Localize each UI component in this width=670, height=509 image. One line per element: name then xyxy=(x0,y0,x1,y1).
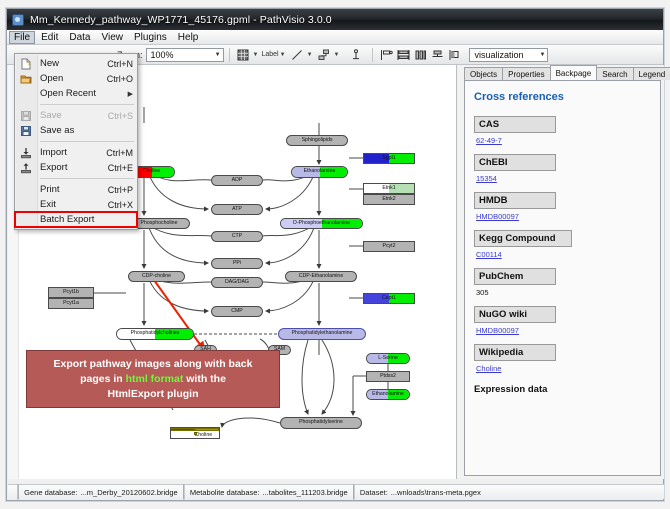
backpage-content: Cross references CAS 62-49-7 ChEBI 15354… xyxy=(464,80,661,476)
label-dropdown-arrow[interactable]: ▼ xyxy=(280,52,286,58)
pathway-node-choline-bottom[interactable]: Choline xyxy=(170,427,220,439)
status-bar: | Gene database: ...m_Derby_20120602.bri… xyxy=(8,484,664,499)
xref-group-cas: CAS 62-49-7 xyxy=(474,116,651,145)
cross-references-heading: Cross references xyxy=(474,91,651,103)
node-label: Pcyt1a xyxy=(63,301,79,306)
node-label: CDP-choline xyxy=(142,274,171,279)
menu-item-edit[interactable]: Edit xyxy=(36,31,63,44)
node-fill-left xyxy=(171,428,195,431)
node-label: O-Phosphoethanolamine xyxy=(293,221,350,226)
node-label: Ethanolamine xyxy=(372,392,404,397)
submenu-arrow-icon: ▶ xyxy=(128,90,133,98)
node-label: SAH xyxy=(200,347,211,352)
pathway-node-etnk2[interactable]: Etnk2 xyxy=(363,194,415,205)
status-dataset-label: Dataset: xyxy=(360,488,388,497)
file-menu-label-new: New xyxy=(40,58,107,69)
status-metabolite-db-value: ...tabolites_111203.bridge xyxy=(263,488,348,497)
file-menu-accel-print: Ctrl+P xyxy=(108,185,133,195)
application-window: Mm_Kennedy_pathway_WP1771_45176.gpml - P… xyxy=(6,8,664,501)
file-menu-item-print[interactable]: Print Ctrl+P xyxy=(15,182,137,197)
menu-item-plugins[interactable]: Plugins xyxy=(129,31,172,44)
file-menu-item-open-recent[interactable]: Open Recent ▶ xyxy=(15,86,137,101)
label-icon[interactable]: Label xyxy=(261,51,278,58)
tab-search[interactable]: Search xyxy=(596,67,633,80)
menu-item-file[interactable]: File xyxy=(9,31,35,44)
selection-handle[interactable] xyxy=(194,427,197,428)
pathway-node-ethanolamine-right[interactable]: Ethanolamine xyxy=(366,389,410,400)
annotation-callout: Export pathway images along with back pa… xyxy=(26,350,280,408)
xref-link-kegg[interactable]: C00114 xyxy=(476,250,502,259)
line-icon[interactable] xyxy=(290,47,305,62)
node-label: ATP xyxy=(232,207,242,212)
file-menu-separator-2 xyxy=(40,141,134,142)
pathway-node-cdp-choline[interactable]: CDP-choline xyxy=(128,271,185,282)
status-gene-db-value: ...m_Derby_20120602.bridge xyxy=(81,488,178,497)
file-menu-label-save-as: Save as xyxy=(40,125,133,136)
pathway-node-cmp[interactable]: CMP xyxy=(211,306,263,317)
annotation-line3: HtmlExport plugin xyxy=(108,388,199,400)
xref-name-chebi: ChEBI xyxy=(474,154,556,171)
annotation-text: Export pathway images along with back pa… xyxy=(54,357,253,402)
xref-link-nugo[interactable]: HMDB00097 xyxy=(476,326,519,335)
selection-handle[interactable] xyxy=(170,432,171,435)
selection-handle[interactable] xyxy=(219,427,220,428)
pathway-node-cept1-right[interactable]: Cept1 xyxy=(363,293,415,304)
node-label: Sgpl1 xyxy=(382,156,395,161)
xref-group-hmdb: HMDB HMDB00097 xyxy=(474,192,651,221)
side-panel: Objects Properties Backpage Search Legen… xyxy=(457,65,664,479)
tab-properties[interactable]: Properties xyxy=(502,67,550,80)
chevron-down-icon-2: ▼ xyxy=(540,52,546,58)
new-file-icon xyxy=(20,58,32,70)
node-label: Phosphocholine xyxy=(141,221,178,226)
file-menu-label-open: Open xyxy=(40,73,107,84)
stack-icon[interactable] xyxy=(430,47,445,62)
pathway-node-phosphatidylserine[interactable]: Phosphatidylserine xyxy=(280,417,362,429)
node-label: CMP xyxy=(231,309,243,314)
node-label: L-Serine xyxy=(378,356,398,361)
file-menu-separator-3 xyxy=(40,178,134,179)
file-menu-label-export: Export xyxy=(40,162,108,173)
file-menu-accel-import: Ctrl+M xyxy=(106,148,133,158)
node-label: CTP xyxy=(232,234,242,239)
xref-link-cas[interactable]: 62-49-7 xyxy=(476,136,502,145)
file-menu-item-save-as[interactable]: Save as xyxy=(15,123,137,138)
anchor-icon[interactable] xyxy=(348,47,363,62)
node-label: Etnk2 xyxy=(382,197,395,202)
menu-bar: File Edit Data View Plugins Help xyxy=(7,30,663,45)
pathway-node-cdp-ethanolamine[interactable]: CDP-Ethanolamine xyxy=(285,271,357,282)
xref-name-hmdb: HMDB xyxy=(474,192,556,209)
xref-value-nugo[interactable]: HMDB00097 xyxy=(476,326,651,335)
node-label: Phosphatidylcholines xyxy=(131,331,180,336)
align-left-icon[interactable] xyxy=(379,47,394,62)
node-label: Pcyt2 xyxy=(383,244,396,249)
tab-backpage[interactable]: Backpage xyxy=(550,65,598,80)
pathway-node-o-phosphoethanolamine[interactable]: O-Phosphoethanolamine xyxy=(280,218,363,229)
xref-value-pubchem: 305 xyxy=(476,288,651,297)
pathway-node-atp[interactable]: ATP xyxy=(211,204,263,215)
node-label: CDP-Ethanolamine xyxy=(299,274,343,279)
pathway-node-ptdss2[interactable]: Ptdss2 xyxy=(366,371,410,382)
file-menu-item-save: Save Ctrl+S xyxy=(15,108,137,123)
export-icon xyxy=(20,162,32,174)
selection-handle[interactable] xyxy=(219,432,220,435)
node-label: Phosphatidylethanolamine xyxy=(292,331,353,336)
xref-link-chebi[interactable]: 15354 xyxy=(476,174,497,183)
open-folder-icon xyxy=(20,73,32,85)
pathway-node-dagdag[interactable]: DAG/DAG xyxy=(211,277,263,288)
file-menu-label-print: Print xyxy=(40,184,108,195)
xref-group-wikipedia: Wikipedia Choline xyxy=(474,344,651,373)
status-dataset-value: ...wnloads\trans-meta.pgex xyxy=(391,488,481,497)
expression-data-heading: Expression data xyxy=(474,384,651,395)
xref-name-kegg: Kegg Compound xyxy=(474,230,572,247)
tab-legend[interactable]: Legend xyxy=(633,67,670,80)
tab-objects[interactable]: Objects xyxy=(464,67,503,80)
xref-name-cas: CAS xyxy=(474,116,556,133)
toolbar-separator-2 xyxy=(372,48,373,62)
xref-name-wikipedia: Wikipedia xyxy=(474,344,556,361)
selection-handle[interactable] xyxy=(194,438,197,439)
node-label: DAG/DAG xyxy=(225,280,249,285)
xref-value-kegg[interactable]: C00114 xyxy=(476,250,651,259)
pathway-node-pcyt1b[interactable]: Pcyt1b xyxy=(48,287,94,298)
menu-item-data[interactable]: Data xyxy=(64,31,95,44)
file-menu-separator-1 xyxy=(40,104,134,105)
toolbar-separator xyxy=(229,48,230,62)
pathway-node-phosphatidylcholines[interactable]: Phosphatidylcholines xyxy=(116,328,194,340)
xref-value-wikipedia[interactable]: Choline xyxy=(476,364,651,373)
xref-name-pubchem: PubChem xyxy=(474,268,556,285)
file-menu-item-import[interactable]: Import Ctrl+M xyxy=(15,145,137,160)
align-columns-icon[interactable] xyxy=(413,47,428,62)
file-menu-label-import: Import xyxy=(40,147,106,158)
file-menu-accel-new: Ctrl+N xyxy=(107,59,133,69)
title-bar: Mm_Kennedy_pathway_WP1771_45176.gpml - P… xyxy=(7,9,663,30)
save-disk-icon xyxy=(20,110,32,122)
zoom-value: 100% xyxy=(151,50,174,60)
app-icon xyxy=(12,14,24,26)
order-icon[interactable] xyxy=(447,47,462,62)
selection-handle[interactable] xyxy=(170,427,171,428)
pathway-node-pcyt1a[interactable]: Pcyt1a xyxy=(48,298,94,309)
xref-value-cas[interactable]: 62-49-7 xyxy=(476,136,651,145)
file-menu-item-batch-export[interactable]: Batch Export xyxy=(15,212,137,227)
visualization-combobox[interactable]: visualization ▼ xyxy=(469,48,548,62)
xref-value-hmdb[interactable]: HMDB00097 xyxy=(476,212,651,221)
xref-group-chebi: ChEBI 15354 xyxy=(474,154,651,183)
xref-group-kegg: Kegg Compound C00114 xyxy=(474,230,651,259)
pathway-node-adp[interactable]: ADP xyxy=(211,175,263,186)
file-menu-item-export[interactable]: Export Ctrl+E xyxy=(15,160,137,175)
file-menu-accel-exit: Ctrl+X xyxy=(108,200,133,210)
file-menu-accel-save: Ctrl+S xyxy=(108,111,133,121)
menu-item-help[interactable]: Help xyxy=(173,31,204,44)
screen: Mm_Kennedy_pathway_WP1771_45176.gpml - P… xyxy=(0,0,670,509)
chevron-down-icon: ▼ xyxy=(215,52,221,58)
pathway-node-ethanolamine-top[interactable]: Ethanolamine xyxy=(291,166,348,178)
node-label: Pcyt1b xyxy=(63,290,79,295)
node-label: Choline xyxy=(143,169,161,174)
pathway-node-pcyt2[interactable]: Pcyt2 xyxy=(363,241,415,252)
xref-value-chebi[interactable]: 15354 xyxy=(476,174,651,183)
pathway-node-sgpl1[interactable]: Sgpl1 xyxy=(363,153,415,164)
node-label: ADP xyxy=(232,178,243,183)
file-menu-accel-export: Ctrl+E xyxy=(108,163,133,173)
node-label: Ethanolamine xyxy=(304,169,336,174)
annotation-line2-after: with the xyxy=(183,373,226,385)
file-menu-label-exit: Exit xyxy=(40,199,108,210)
annotation-highlight: html format xyxy=(126,373,184,385)
pathway-node-phosphatidylethanolamine[interactable]: Phosphatidylethanolamine xyxy=(278,328,366,340)
pathway-node-l-serine[interactable]: L-Serine xyxy=(366,353,410,364)
pathway-node-sphingolipids[interactable]: Sphingolipids xyxy=(286,135,348,146)
xref-link-hmdb[interactable]: HMDB00097 xyxy=(476,212,519,221)
node-label: Etnk1 xyxy=(382,186,395,191)
selection-handle[interactable] xyxy=(170,438,171,439)
file-menu-label-save: Save xyxy=(40,110,108,121)
node-label: Phosphatidylserine xyxy=(299,420,343,425)
node-label: Cept1 xyxy=(382,296,396,301)
grid-dropdown-arrow[interactable]: ▼ xyxy=(253,52,259,58)
file-menu-label-batch-export: Batch Export xyxy=(40,214,133,225)
node-label: Choline xyxy=(194,432,197,435)
file-menu-label-open-recent: Open Recent xyxy=(40,88,128,99)
xref-group-pubchem: PubChem 305 xyxy=(474,268,651,297)
pathway-node-ctp[interactable]: CTP xyxy=(211,231,263,242)
node-label: Ptdss2 xyxy=(380,374,396,379)
file-menu-item-new[interactable]: New Ctrl+N xyxy=(15,56,137,71)
status-metabolite-db-label: Metabolite database: xyxy=(190,488,260,497)
file-menu-item-open[interactable]: Open Ctrl+O xyxy=(15,71,137,86)
node-fill-right xyxy=(195,428,219,431)
grid-icon[interactable] xyxy=(236,47,251,62)
interaction-dropdown-arrow[interactable]: ▼ xyxy=(334,52,340,58)
file-menu-item-exit[interactable]: Exit Ctrl+X xyxy=(15,197,137,212)
annotation-line1: Export pathway images along with back xyxy=(54,358,253,370)
interaction-icon[interactable] xyxy=(317,47,332,62)
file-menu-dropdown[interactable]: New Ctrl+N Open Ctrl+O Open Recent ▶ Sav… xyxy=(14,53,138,230)
xref-link-wikipedia[interactable]: Choline xyxy=(476,364,501,373)
zoom-combobox[interactable]: 100% ▼ xyxy=(146,48,224,62)
xref-name-nugo: NuGO wiki xyxy=(474,306,556,323)
pathway-node-etnk1[interactable]: Etnk1 xyxy=(363,183,415,194)
node-label: SAM xyxy=(274,347,285,352)
status-gene-db-label: Gene database: xyxy=(24,488,77,497)
save-as-disk-icon xyxy=(20,125,32,137)
window-title: Mm_Kennedy_pathway_WP1771_45176.gpml - P… xyxy=(30,14,332,26)
annotation-line2-before: pages in xyxy=(80,373,126,385)
side-panel-tabs: Objects Properties Backpage Search Legen… xyxy=(457,65,664,80)
menu-item-view[interactable]: View xyxy=(96,31,128,44)
node-label: PPi xyxy=(233,261,241,266)
file-menu-accel-open: Ctrl+O xyxy=(107,74,133,84)
import-icon xyxy=(20,147,32,159)
xref-group-nugo: NuGO wiki HMDB00097 xyxy=(474,306,651,335)
align-distribute-icon[interactable] xyxy=(396,47,411,62)
selection-handle[interactable] xyxy=(219,438,220,439)
visualization-value: visualization xyxy=(474,50,523,60)
line-dropdown-arrow[interactable]: ▼ xyxy=(307,52,313,58)
pathway-node-ppi[interactable]: PPi xyxy=(211,258,263,269)
node-label: Sphingolipids xyxy=(302,138,333,143)
